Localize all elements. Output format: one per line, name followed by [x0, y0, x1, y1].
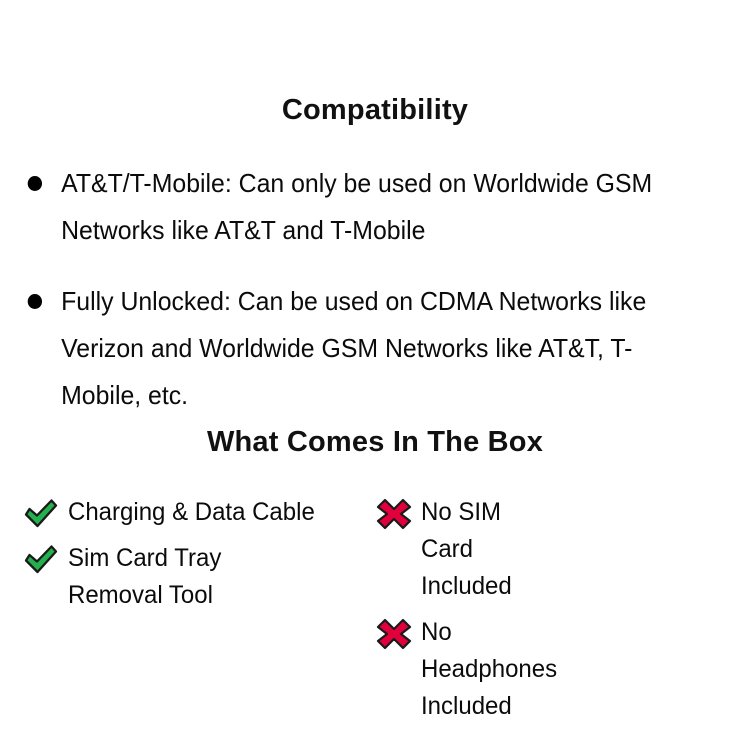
list-item: Charging & Data Cable — [22, 494, 353, 531]
box-contents-heading: What Comes In The Box — [0, 428, 750, 457]
red-cross-icon — [375, 497, 413, 531]
included-item-label: Charging & Data Cable — [68, 494, 315, 531]
not-included-item-label: No Headphones Included — [421, 614, 557, 725]
compatibility-list: AT&T/T-Mobile: Can only be used on World… — [0, 160, 750, 443]
filled-circle-bullet-icon — [28, 294, 42, 309]
compatibility-item-text: AT&T/T-Mobile: Can only be used on World… — [61, 160, 708, 254]
compatibility-heading: Compatibility — [0, 96, 750, 125]
list-item: No Headphones Included — [375, 614, 397, 725]
compatibility-item-text: Fully Unlocked: Can be used on CDMA Netw… — [61, 278, 708, 419]
included-item-label: Sim Card Tray Removal Tool — [68, 540, 221, 614]
product-info-panel: Compatibility AT&T/T-Mobile: Can only be… — [0, 0, 750, 750]
not-included-item-label: No SIM Card Included — [421, 494, 512, 605]
list-item: AT&T/T-Mobile: Can only be used on World… — [0, 160, 716, 254]
box-contents-grid: Charging & Data Cable Sim Card Tray Remo… — [0, 494, 750, 734]
filled-circle-bullet-icon — [28, 176, 42, 191]
list-item: Fully Unlocked: Can be used on CDMA Netw… — [0, 278, 716, 419]
list-item: No SIM Card Included — [375, 494, 397, 605]
red-cross-icon — [375, 617, 413, 651]
